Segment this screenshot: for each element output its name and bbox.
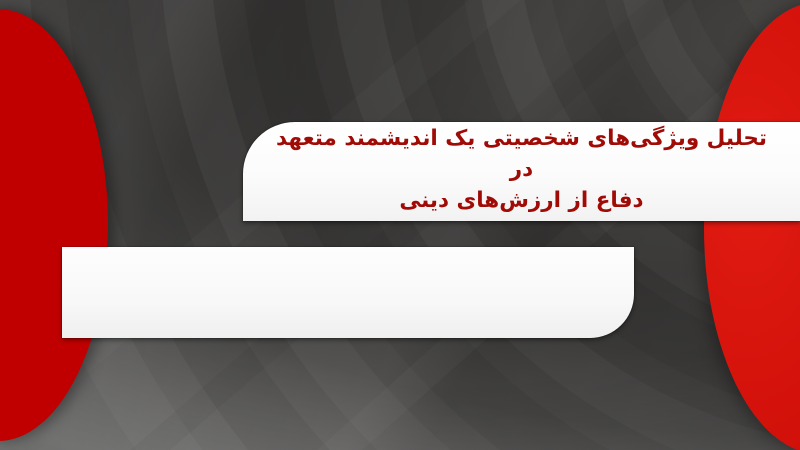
subtitle-panel[interactable] <box>62 247 634 338</box>
presentation-slide: تحلیل ویژگی‌های شخصیتی یک اندیشمند متعهد… <box>0 0 800 450</box>
background-arc-pattern <box>0 0 800 450</box>
title-panel[interactable]: تحلیل ویژگی‌های شخصیتی یک اندیشمند متعهد… <box>243 122 800 221</box>
slide-title[interactable]: تحلیل ویژگی‌های شخصیتی یک اندیشمند متعهد… <box>269 123 774 217</box>
